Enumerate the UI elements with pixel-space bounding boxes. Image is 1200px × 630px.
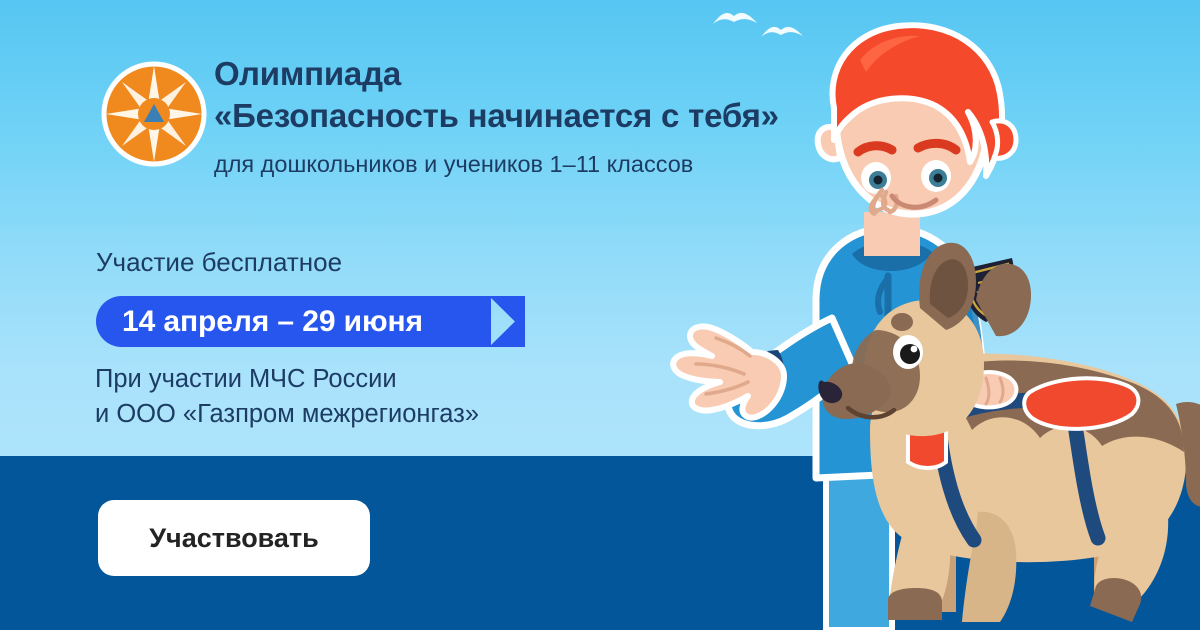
free-participation-text: Участие бесплатное — [96, 247, 342, 278]
date-ribbon: 14 апреля – 29 июня — [96, 296, 521, 347]
ribbon-tail — [489, 296, 525, 347]
emercom-compass-logo — [96, 52, 212, 168]
partners-block: При участии МЧС России и ООО «Газпром ме… — [95, 362, 479, 432]
date-ribbon-label: 14 апреля – 29 июня — [122, 296, 423, 347]
partners-line-1: При участии МЧС России — [95, 362, 479, 397]
headline-line-1: Олимпиада — [214, 53, 854, 95]
promo-banner: Олимпиада «Безопасность начинается с теб… — [0, 0, 1200, 630]
headline-line-2: «Безопасность начинается с тебя» — [214, 95, 854, 137]
headline-block: Олимпиада «Безопасность начинается с теб… — [214, 53, 854, 180]
participate-button[interactable]: Участвовать — [98, 500, 370, 576]
headline-subtitle: для дошкольников и учеников 1–11 классов — [214, 150, 854, 179]
partners-line-2: и ООО «Газпром межрегионгаз» — [95, 397, 479, 432]
bird-icon — [712, 10, 758, 30]
bird-icon — [760, 24, 804, 43]
